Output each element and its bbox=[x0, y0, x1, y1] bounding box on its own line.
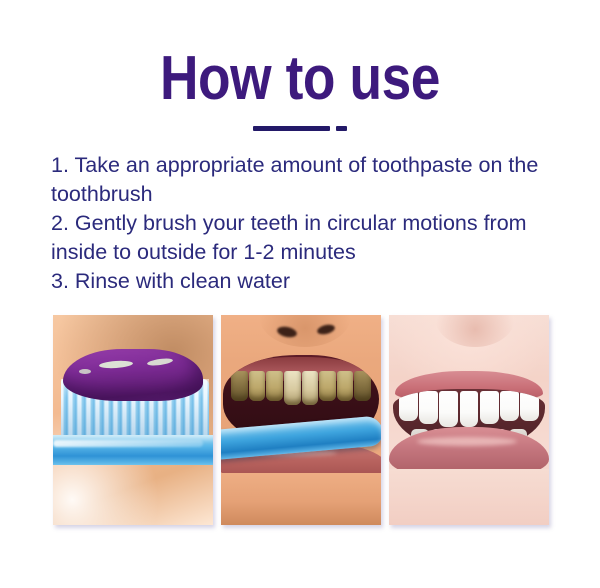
chin bbox=[389, 469, 549, 525]
tooth bbox=[302, 371, 319, 405]
stained-teeth-row bbox=[231, 371, 371, 405]
tooth bbox=[439, 391, 458, 427]
instruction-line: 3. Rinse with clean water bbox=[51, 267, 579, 296]
tooth bbox=[337, 371, 354, 401]
photo-white-smile-result bbox=[389, 315, 549, 525]
toothpaste-highlight bbox=[79, 369, 91, 374]
tooth bbox=[249, 371, 266, 401]
photo-gallery bbox=[53, 315, 549, 525]
tooth bbox=[231, 371, 248, 401]
title-divider bbox=[0, 126, 600, 131]
tooth bbox=[399, 391, 418, 421]
tooth bbox=[354, 371, 371, 401]
instruction-line: 2. Gently brush your teeth in circular m… bbox=[51, 209, 579, 238]
tooth bbox=[520, 391, 539, 421]
divider-bar bbox=[253, 126, 330, 131]
photo-toothbrush-with-toothpaste bbox=[53, 315, 213, 525]
tooth bbox=[266, 371, 283, 401]
instruction-line: toothbrush bbox=[51, 180, 579, 209]
tooth bbox=[500, 391, 519, 421]
toothpaste-highlight bbox=[99, 360, 133, 369]
photo-brushing-stained-teeth bbox=[221, 315, 381, 525]
toothpaste-blob bbox=[63, 349, 203, 401]
tooth bbox=[480, 391, 499, 424]
tooth bbox=[319, 371, 336, 401]
tooth bbox=[460, 391, 479, 427]
tooth bbox=[284, 371, 301, 405]
chin bbox=[221, 473, 381, 525]
divider-dash bbox=[336, 126, 347, 131]
tooth bbox=[419, 391, 438, 424]
toothpaste-highlight bbox=[147, 357, 174, 367]
toothbrush-handle bbox=[53, 435, 213, 465]
instruction-list: 1. Take an appropriate amount of toothpa… bbox=[51, 151, 579, 296]
white-teeth-row bbox=[399, 391, 539, 427]
instruction-line: inside to outside for 1-2 minutes bbox=[51, 238, 579, 267]
page-title: How to use bbox=[42, 48, 558, 110]
instruction-line: 1. Take an appropriate amount of toothpa… bbox=[51, 151, 579, 180]
